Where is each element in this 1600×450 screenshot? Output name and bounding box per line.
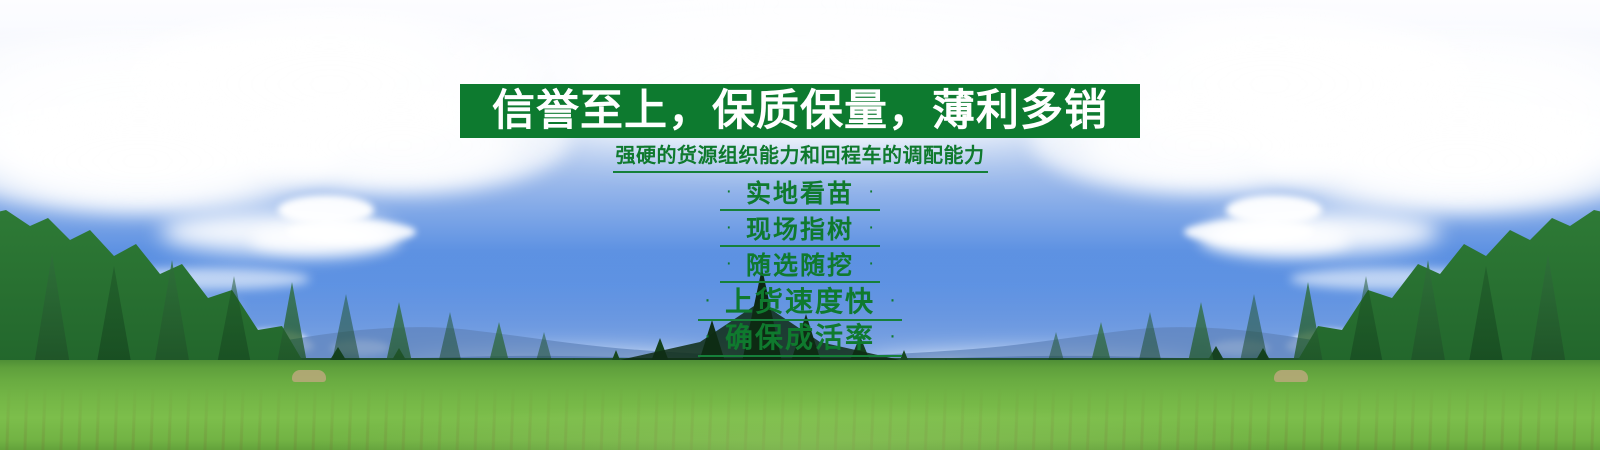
feature-row-1: · 实地看苗 · xyxy=(0,178,1600,214)
headline-text: 信誉至上，保质保量，薄利多销 xyxy=(492,90,1108,133)
feature-row-3: · 随选随挖 · xyxy=(0,250,1600,286)
bullet-dot-left-5: · xyxy=(704,325,711,346)
feature-label-2: 现场指树 xyxy=(746,217,854,242)
feature-label-5: 确保成活率 xyxy=(725,324,875,352)
bullet-dot-left-4: · xyxy=(704,289,711,310)
bullet-dot-right-4: · xyxy=(889,289,896,310)
feature-label-4: 上货速度快 xyxy=(725,288,875,316)
bullet-dot-right-5: · xyxy=(889,325,896,346)
feature-row-2: · 现场指树 · xyxy=(0,214,1600,250)
banner-content: 信誉至上，保质保量，薄利多销 强硬的货源组织能力和回程车的调配能力 · 实地看苗… xyxy=(0,0,1600,450)
subtitle-wrap: 强硬的货源组织能力和回程车的调配能力 xyxy=(0,143,1600,173)
bullet-dot-right-2: · xyxy=(868,218,874,237)
feature-row-4: · 上货速度快 · xyxy=(0,286,1600,322)
bullet-dot-left-3: · xyxy=(726,254,732,273)
bullet-dot-left-2: · xyxy=(726,218,732,237)
feature-list: · 实地看苗 · · 现场指树 · · 随选随挖 · xyxy=(0,178,1600,358)
bullet-dot-right-3: · xyxy=(868,254,874,273)
feature-row-5: · 确保成活率 · xyxy=(0,322,1600,358)
bullet-dot-left-1: · xyxy=(726,182,732,201)
subtitle-text: 强硬的货源组织能力和回程车的调配能力 xyxy=(613,143,988,173)
feature-label-3: 随选随挖 xyxy=(746,253,854,278)
headline-banner: 信誉至上，保质保量，薄利多销 xyxy=(460,84,1140,138)
bullet-dot-right-1: · xyxy=(868,182,874,201)
promo-banner: 信誉至上，保质保量，薄利多销 强硬的货源组织能力和回程车的调配能力 · 实地看苗… xyxy=(0,0,1600,450)
feature-label-1: 实地看苗 xyxy=(746,181,854,206)
